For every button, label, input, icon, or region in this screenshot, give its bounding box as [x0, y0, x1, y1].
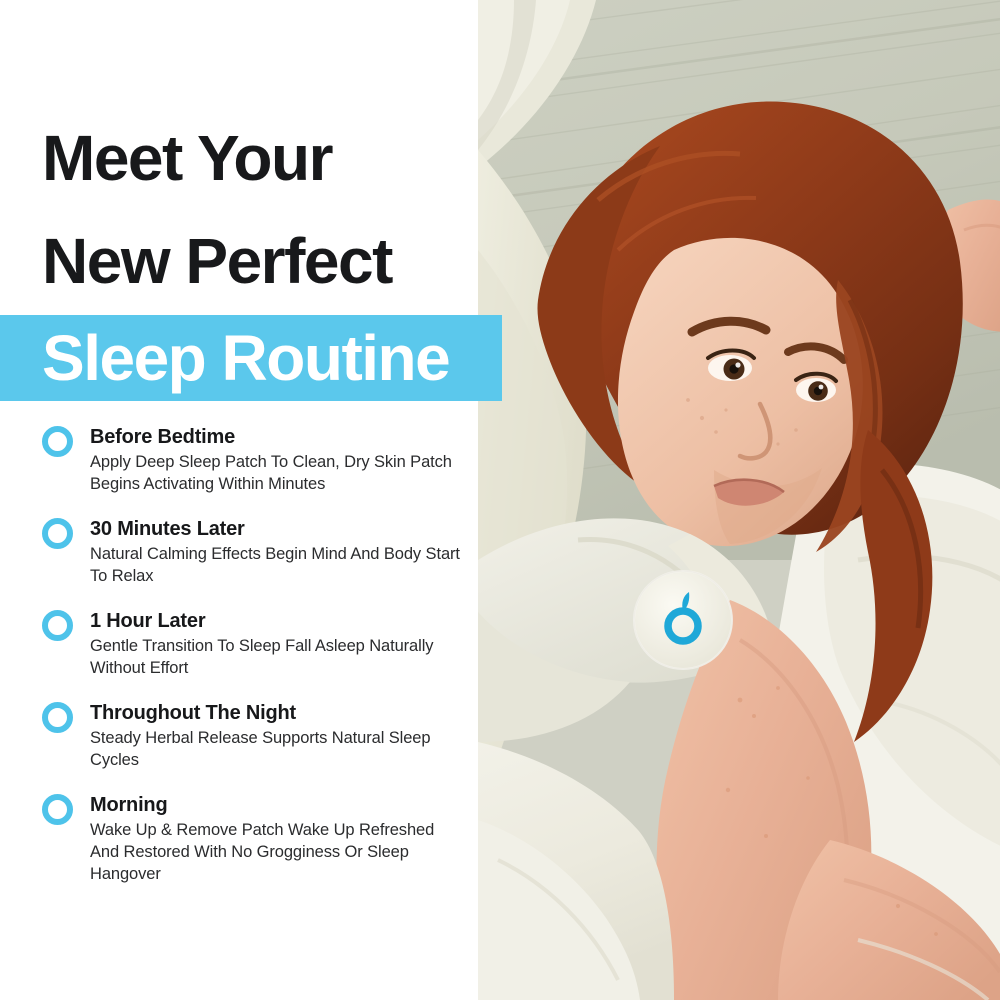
lifestyle-photo: [478, 0, 1000, 1000]
headline: Meet Your New Perfect: [42, 107, 502, 313]
list-item: Before Bedtime Apply Deep Sleep Patch To…: [42, 424, 462, 495]
step-description: Wake Up & Remove Patch Wake Up Refreshed…: [90, 819, 462, 885]
step-title: 30 Minutes Later: [90, 516, 462, 542]
step-description: Gentle Transition To Sleep Fall Asleep N…: [90, 635, 462, 679]
list-item: Morning Wake Up & Remove Patch Wake Up R…: [42, 792, 462, 885]
list-item: Throughout The Night Steady Herbal Relea…: [42, 700, 462, 771]
step-description: Steady Herbal Release Supports Natural S…: [90, 727, 462, 771]
step-description: Natural Calming Effects Begin Mind And B…: [90, 543, 462, 587]
circle-outline-icon: [42, 426, 73, 457]
circle-outline-icon: [42, 702, 73, 733]
routine-step-list: Before Bedtime Apply Deep Sleep Patch To…: [42, 424, 462, 885]
list-item: 1 Hour Later Gentle Transition To Sleep …: [42, 608, 462, 679]
step-description: Apply Deep Sleep Patch To Clean, Dry Ski…: [90, 451, 462, 495]
promo-graphic: Meet Your New Perfect Sleep Routine Befo…: [0, 0, 1000, 1000]
step-title: Morning: [90, 792, 462, 818]
list-item: 30 Minutes Later Natural Calming Effects…: [42, 516, 462, 587]
circle-outline-icon: [42, 610, 73, 641]
step-title: 1 Hour Later: [90, 608, 462, 634]
photo-illustration: [478, 0, 1000, 1000]
headline-line-1: Meet Your: [42, 107, 502, 210]
step-title: Before Bedtime: [90, 424, 462, 450]
step-title: Throughout The Night: [90, 700, 462, 726]
headline-line-2: New Perfect: [42, 210, 502, 313]
circle-outline-icon: [42, 794, 73, 825]
circle-outline-icon: [42, 518, 73, 549]
headline-line-3: Sleep Routine: [42, 316, 562, 400]
